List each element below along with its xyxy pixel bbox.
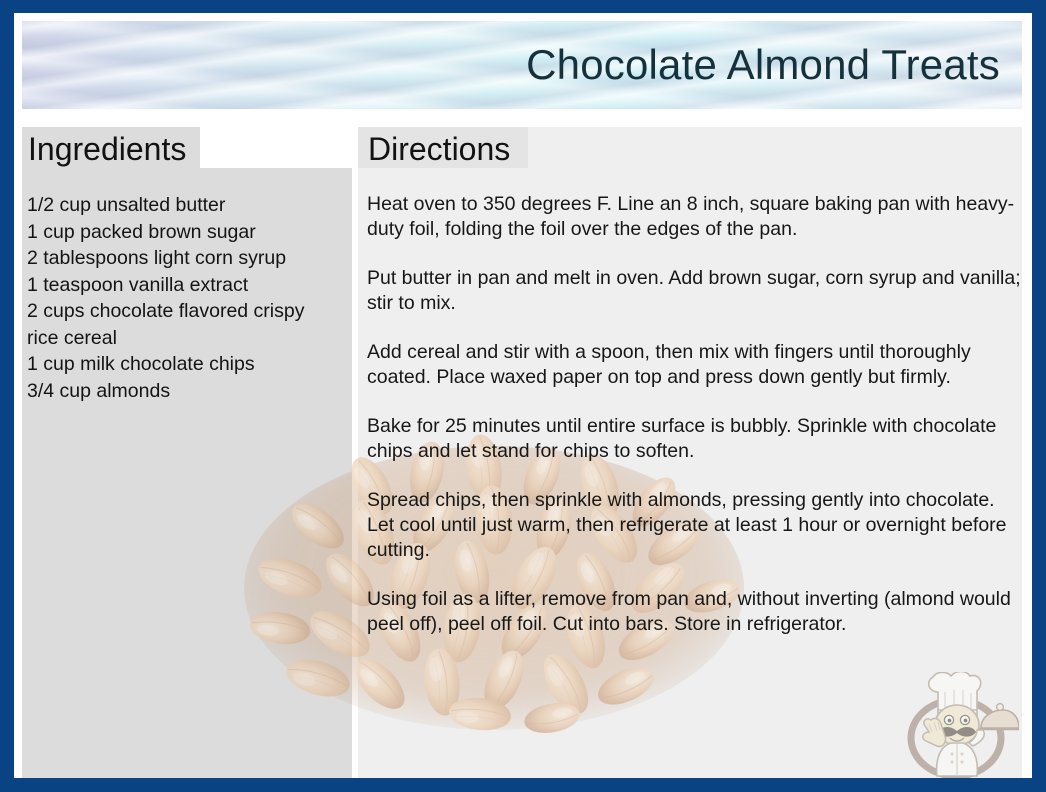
direction-step: Using foil as a lifter, remove from pan … [367,587,1022,637]
page-title: Chocolate Almond Treats [526,41,1000,89]
direction-step: Spread chips, then sprinkle with almonds… [367,488,1022,563]
ingredient-item: 2 tablespoons light corn syrup [27,245,339,272]
frame-border-right [1032,0,1046,792]
frame-border-top [0,0,1046,13]
title-banner: Chocolate Almond Treats [22,21,1022,109]
direction-step: Put butter in pan and melt in oven. Add … [367,266,1022,316]
ingredient-item: 2 cups chocolate flavored crispy rice ce… [27,298,339,351]
recipe-card: Chocolate Almond Treats Ingredients 1/2 … [0,0,1046,792]
ingredient-item: 1 teaspoon vanilla extract [27,272,339,299]
directions-heading: Directions [368,131,510,168]
frame-border-bottom [0,778,1046,792]
ingredient-item: 1 cup packed brown sugar [27,219,339,246]
directions-body: Heat oven to 350 degrees F. Line an 8 in… [367,192,1022,637]
ingredient-item: 1/2 cup unsalted butter [27,192,339,219]
ingredient-item: 1 cup milk chocolate chips [27,351,339,378]
ingredients-heading: Ingredients [28,131,186,168]
direction-step: Add cereal and stir with a spoon, then m… [367,340,1022,390]
direction-step: Bake for 25 minutes until entire surface… [367,414,1022,464]
ingredients-list: 1/2 cup unsalted butter1 cup packed brow… [27,192,339,404]
frame-border-left [0,0,14,792]
ingredients-tab-notch [200,127,352,168]
ingredient-item: 3/4 cup almonds [27,378,339,405]
direction-step: Heat oven to 350 degrees F. Line an 8 in… [367,192,1022,242]
